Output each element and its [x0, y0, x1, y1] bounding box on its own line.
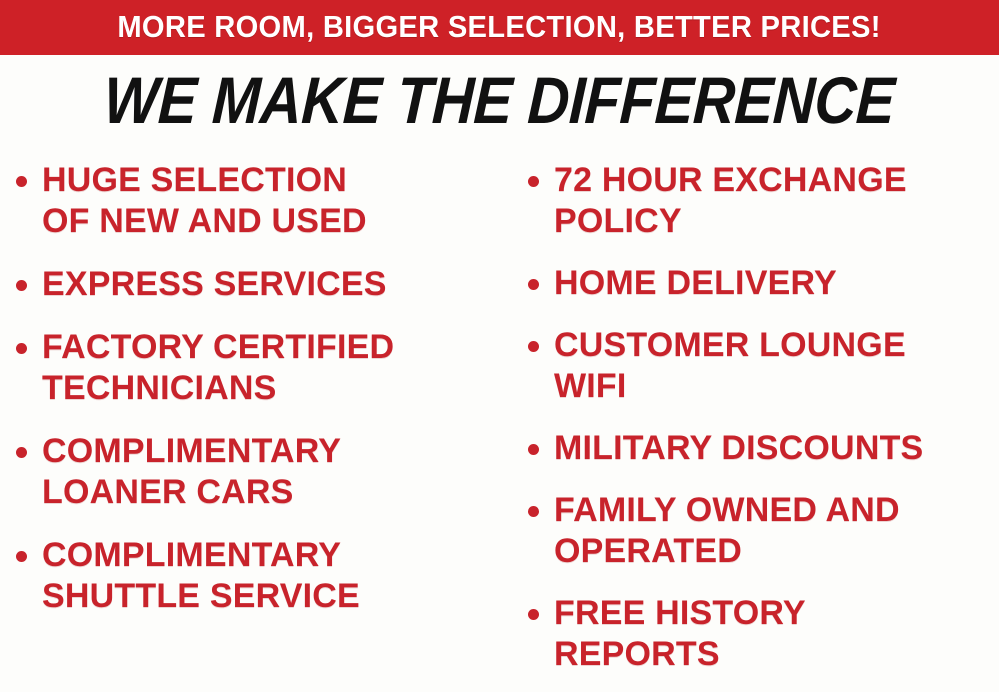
promo-strap: MORE ROOM, BIGGER SELECTION, BETTER PRIC… — [0, 0, 999, 55]
bullet-dot-icon — [16, 280, 27, 291]
bullet-dot-icon — [528, 506, 539, 517]
bullet-dot-icon — [16, 343, 27, 354]
list-item: HUGE SELECTION OF NEW AND USED — [16, 160, 510, 242]
benefits-column-left: HUGE SELECTION OF NEW AND USED EXPRESS S… — [0, 152, 510, 639]
page-title: WE MAKE THE DIFFERENCE — [103, 66, 897, 134]
list-item: MILITARY DISCOUNTS — [528, 428, 999, 469]
bullet-dot-icon — [528, 176, 539, 187]
benefits-column-right: 72 HOUR EXCHANGE POLICY HOME DELIVERY CU… — [510, 152, 999, 692]
list-item: CUSTOMER LOUNGE WIFI — [528, 325, 999, 407]
list-item-label: HOME DELIVERY — [554, 263, 999, 304]
list-item-label: FACTORY CERTIFIED TECHNICIANS — [42, 327, 510, 409]
bullet-dot-icon — [528, 341, 539, 352]
list-item: EXPRESS SERVICES — [16, 264, 510, 305]
dealership-promo-banner: MORE ROOM, BIGGER SELECTION, BETTER PRIC… — [0, 0, 999, 692]
list-item: FACTORY CERTIFIED TECHNICIANS — [16, 327, 510, 409]
list-item: 72 HOUR EXCHANGE POLICY — [528, 160, 999, 242]
list-item-label: CUSTOMER LOUNGE WIFI — [554, 325, 999, 407]
headline-container: WE MAKE THE DIFFERENCE — [0, 66, 999, 134]
list-item-label: FREE HISTORY REPORTS — [554, 593, 999, 675]
list-item-label: HUGE SELECTION OF NEW AND USED — [42, 160, 510, 242]
list-item-label: 72 HOUR EXCHANGE POLICY — [554, 160, 999, 242]
bullet-dot-icon — [528, 279, 539, 290]
bullet-dot-icon — [528, 444, 539, 455]
list-item-label: MILITARY DISCOUNTS — [554, 428, 999, 469]
list-item: HOME DELIVERY — [528, 263, 999, 304]
bullet-dot-icon — [16, 176, 27, 187]
list-item: COMPLIMENTARY SHUTTLE SERVICE — [16, 535, 510, 617]
list-item-label: FAMILY OWNED AND OPERATED — [554, 490, 999, 572]
list-item: COMPLIMENTARY LOANER CARS — [16, 431, 510, 513]
bullet-dot-icon — [16, 551, 27, 562]
list-item-label: COMPLIMENTARY SHUTTLE SERVICE — [42, 535, 510, 617]
promo-strap-text: MORE ROOM, BIGGER SELECTION, BETTER PRIC… — [118, 11, 881, 42]
list-item-label: COMPLIMENTARY LOANER CARS — [42, 431, 510, 513]
list-item: FAMILY OWNED AND OPERATED — [528, 490, 999, 572]
bullet-dot-icon — [16, 447, 27, 458]
bullet-dot-icon — [528, 609, 539, 620]
benefits-columns: HUGE SELECTION OF NEW AND USED EXPRESS S… — [0, 152, 999, 692]
list-item: FREE HISTORY REPORTS — [528, 593, 999, 675]
list-item-label: EXPRESS SERVICES — [42, 264, 510, 305]
